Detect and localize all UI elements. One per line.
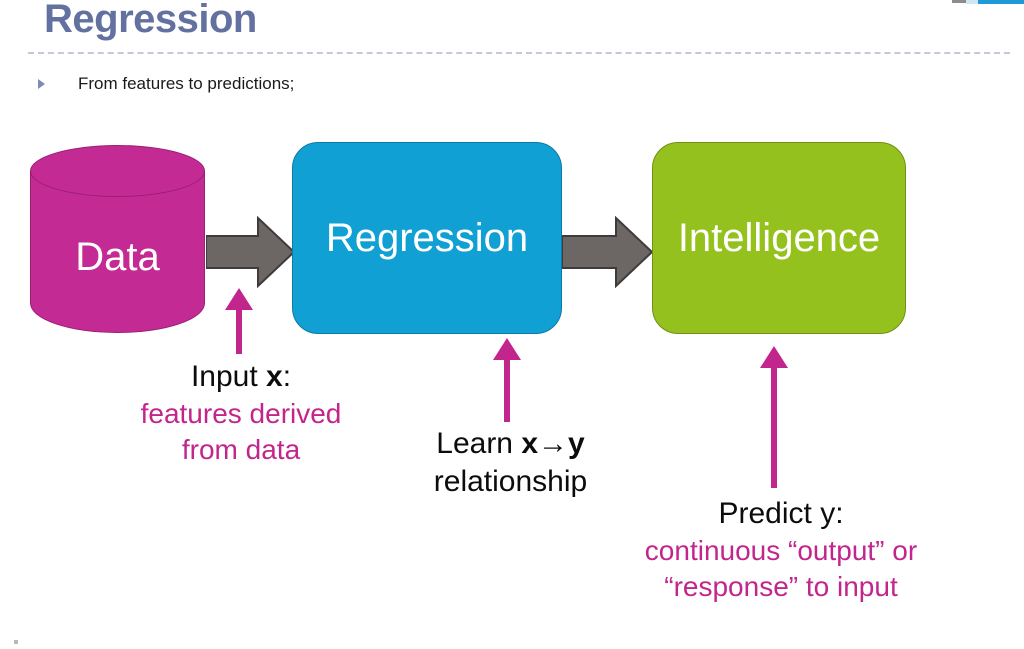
arrow-up-icon-learn [490, 338, 524, 427]
callout-predict-sub-line-2: “response” to input [565, 569, 997, 605]
arrow-up-icon-input [222, 288, 256, 359]
callout-predict-head: Predict y: [565, 495, 997, 533]
callout-predict-head-prefix: Predict [718, 497, 820, 530]
callout-predict-head-suffix: y: [820, 497, 843, 530]
diagram-node-regression: Regression [292, 142, 562, 334]
cylinder-top-ellipse [30, 145, 205, 197]
regression-flow-diagram: Data Regression Intelligence [0, 0, 1024, 649]
diagram-node-data: Data [30, 145, 205, 333]
callout-learn-head-emphasis: x→y [521, 427, 584, 460]
callout-input-head-prefix: Input [191, 360, 266, 393]
block-arrow-right-icon-regression-to-intelligence [562, 216, 654, 293]
diagram-node-intelligence: Intelligence [652, 142, 906, 334]
page-corner-dot [14, 640, 18, 644]
diagram-node-regression-label: Regression [326, 216, 528, 260]
callout-predict: Predict y: continuous “output” or “respo… [565, 495, 997, 605]
callout-learn-head: Learn x→y [378, 425, 643, 463]
callout-input-head-emphasis: x [266, 360, 283, 393]
callout-learn: Learn x→y relationship [378, 425, 643, 501]
callout-predict-sub-line-1: continuous “output” or [565, 533, 997, 569]
callout-input-sub-line-1: features derived [86, 396, 396, 432]
callout-input-head: Input x: [86, 358, 396, 396]
diagram-node-data-label: Data [30, 235, 205, 279]
callout-learn-head-prefix: Learn [436, 427, 521, 460]
diagram-node-intelligence-label: Intelligence [678, 216, 880, 260]
arrow-up-icon-predict [757, 346, 791, 493]
callout-input: Input x: features derived from data [86, 358, 396, 468]
callout-input-head-suffix: : [283, 360, 291, 393]
block-arrow-right-icon-data-to-regression [206, 216, 296, 293]
callout-input-sub-line-2: from data [86, 432, 396, 468]
